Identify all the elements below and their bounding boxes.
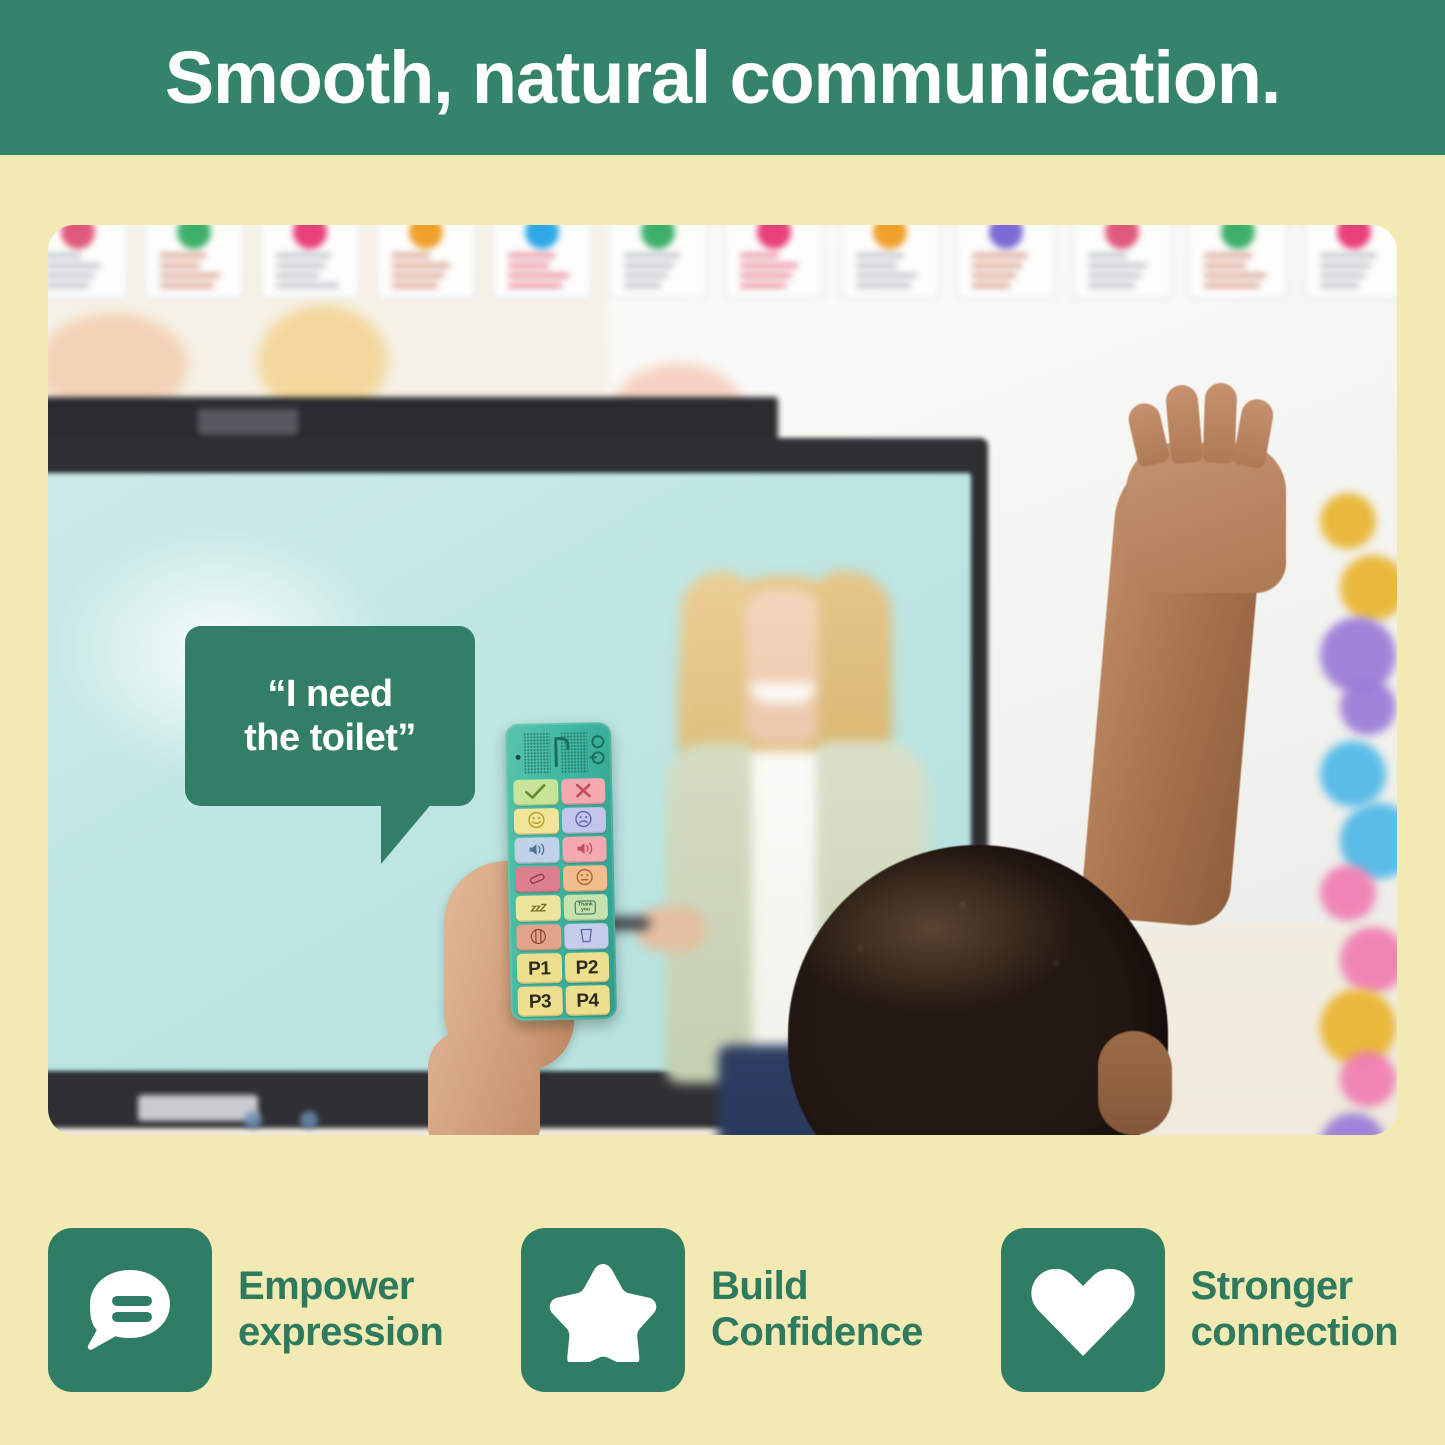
device-key-p3[interactable]: P3 [517,986,562,1017]
poster-dot-icon [293,225,327,249]
poster-lines [508,253,576,293]
brand-rings-icon [589,735,610,767]
microphone-icon [516,755,521,760]
speech-bubble-tail [381,802,433,864]
feature-label-build-confidence: Build Confidence [711,1264,923,1355]
speech-bubble-overlay: “I need the toilet” [185,626,485,856]
speaker-mute-icon [528,842,546,859]
device-key-unsure[interactable] [562,865,607,892]
poster-lines [48,253,112,293]
pompom [1320,865,1376,921]
device-key-sad[interactable] [561,807,606,834]
feature-label-empower-expression: Empower expression [238,1264,443,1355]
device-key-sleep[interactable]: zzZ [516,895,561,922]
wall-poster [376,225,476,299]
pompom [1320,741,1386,807]
device-key-eat[interactable] [516,924,561,951]
cross-icon [574,782,592,801]
bandage-icon [528,871,546,888]
feature-item-stronger-connection[interactable]: Stronger connection [1001,1228,1398,1392]
device-key-loud[interactable] [562,836,607,863]
poster-lines [160,253,228,293]
device-key-drink[interactable] [564,923,609,950]
star-icon [521,1228,685,1392]
classroom-photo: zzZThankyouP1P2P3P4 “I need the toilet” [48,225,1397,1135]
features-row: Empower expression Build Confidence Stro… [48,1222,1398,1398]
poster-lines [740,253,808,293]
whiteboard-button-2 [300,1111,318,1129]
poster-dot-icon [409,225,443,249]
speaker-grille-left-icon [523,732,551,774]
pompom [1340,555,1397,621]
poster-lines [392,253,460,293]
wall-poster [1304,225,1397,299]
cutlery-icon [529,928,547,947]
device-key-happy[interactable] [514,808,559,835]
poster-dot-icon [525,225,559,249]
sad-face-icon [575,810,592,830]
child-raised-hand [1126,443,1286,593]
wall-poster [956,225,1056,299]
device-key-quiet[interactable] [514,837,559,864]
teacher-smile [750,683,816,703]
child-ear [1098,1031,1172,1135]
poster-lines [972,253,1040,293]
preset-key-icon: P3 [529,992,552,1011]
wall-poster [48,225,128,299]
wall-poster [1072,225,1172,299]
device-key-thank-you[interactable]: Thankyou [563,894,608,921]
device-key-no[interactable] [561,778,606,805]
poster-dot-icon [757,225,791,249]
poster-lines [1320,253,1388,293]
brand-logo-icon [551,735,568,769]
speech-bubble: “I need the toilet” [185,626,475,806]
ring-bar-icon [590,756,597,758]
wall-poster [144,225,244,299]
device-key-p4[interactable]: P4 [565,985,610,1016]
header-band: Smooth, natural communication. [0,0,1445,155]
pompom [1320,493,1376,549]
ring-top-icon [591,735,604,748]
feature-item-build-confidence[interactable]: Build Confidence [521,1228,923,1392]
finger-3 [1203,382,1238,463]
preset-key-icon: P2 [575,958,598,977]
poster-dot-icon [177,225,211,249]
device-keypad[interactable]: zzZThankyouP1P2P3P4 [513,778,610,1017]
whiteboard-button-1 [244,1111,262,1129]
wrist [428,1031,540,1135]
speech-bubble-icon [48,1228,212,1392]
device-key-p1[interactable]: P1 [517,953,562,984]
preset-key-icon: P1 [528,959,551,978]
wall-poster [492,225,592,299]
poster-lines [624,253,692,293]
check-icon [524,783,546,802]
poster-dot-icon [1105,225,1139,249]
promo-page: Smooth, natural communication. [0,0,1445,1445]
device-key-yes[interactable] [513,779,558,806]
page-title: Smooth, natural communication. [165,41,1280,115]
poster-dot-icon [61,225,95,249]
device-top-panel [513,729,604,777]
happy-face-icon [527,811,544,831]
pompom [1340,1051,1396,1107]
poster-lines [856,253,924,293]
thank-you-bubble-icon: Thankyou [575,900,596,915]
pompom [1340,927,1397,993]
poster-dot-icon [873,225,907,249]
wall-poster [724,225,824,299]
poster-lines [1204,253,1272,293]
speaker-loud-icon [575,841,593,858]
wall-poster [608,225,708,299]
wall-poster [1188,225,1288,299]
feature-label-stronger-connection: Stronger connection [1191,1264,1398,1355]
device-key-p2[interactable]: P2 [564,952,609,983]
heart-icon [1001,1228,1165,1392]
sleep-zzz-icon: zzZ [531,902,546,914]
cup-icon [579,927,593,946]
wall-poster [840,225,940,299]
aac-device[interactable]: zzZThankyouP1P2P3P4 [505,722,617,1021]
whiteboard-pen-tray [138,1095,258,1121]
poster-dot-icon [1337,225,1371,249]
feature-item-empower-expression[interactable]: Empower expression [48,1228,443,1392]
speech-bubble-line-1: “I need [267,673,392,715]
pompom [1340,679,1396,735]
poster-lines [276,253,344,293]
neutral-face-icon [576,868,593,888]
poster-lines [1088,253,1156,293]
device-key-hurt[interactable] [515,866,560,893]
speech-bubble-text: “I need the toilet” [244,672,416,760]
poster-dot-icon [641,225,675,249]
poster-dot-icon [989,225,1023,249]
wall-poster [260,225,360,299]
speech-bubble-line-2: the toilet” [244,717,416,759]
preset-key-icon: P4 [576,991,599,1010]
poster-dot-icon [1221,225,1255,249]
